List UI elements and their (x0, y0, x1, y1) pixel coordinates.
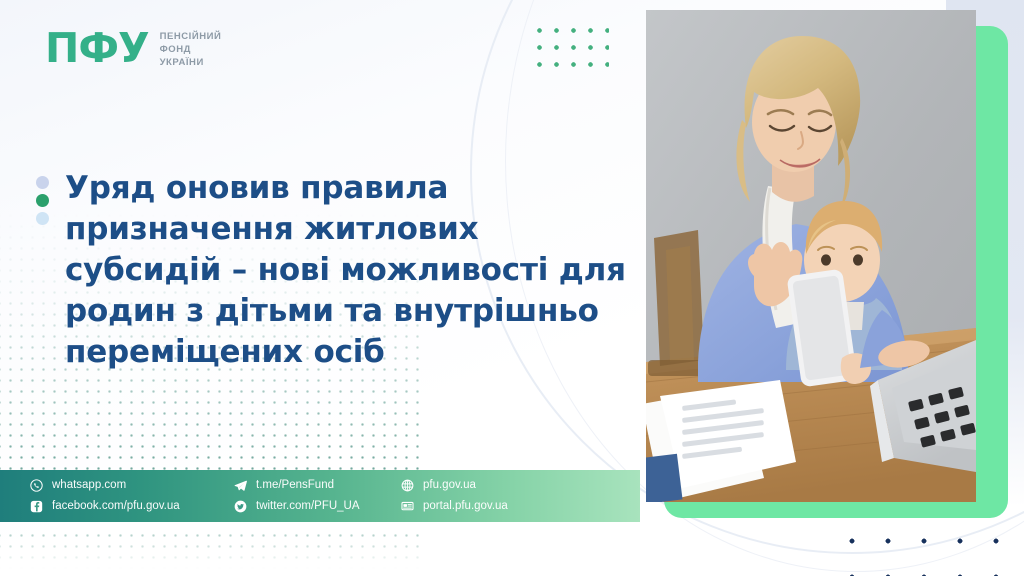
poster-canvas: ПФУ ПЕНСІЙНИЙ ФОНД УКРАЇНИ Уряд оновив п… (0, 0, 1024, 576)
contact-link-telegram[interactable]: t.me/PensFund (234, 479, 401, 493)
contact-link-whatsapp[interactable]: whatsapp.com (30, 479, 234, 493)
contact-label: pfu.gov.ua (423, 479, 476, 492)
contact-column-3: pfu.gov.ua portal.pfu.gov.ua (401, 479, 581, 514)
pfu-logo: ПФУ ПЕНСІЙНИЙ ФОНД УКРАЇНИ (45, 28, 221, 69)
contact-column-2: t.me/PensFund twitter.com/PFU_UA (234, 479, 401, 514)
dot-pattern-green-top (531, 22, 609, 68)
contact-label: portal.pfu.gov.ua (423, 500, 508, 513)
logo-line-3: УКРАЇНИ (160, 57, 222, 68)
bullet-dot-1 (36, 176, 49, 189)
whatsapp-icon (30, 479, 43, 492)
logo-line-2: ФОНД (160, 44, 222, 55)
page-title: Уряд оновив правила призначення житлових… (65, 168, 635, 373)
hero-photo (646, 10, 976, 502)
globe-icon (401, 479, 414, 492)
contact-label: t.me/PensFund (256, 479, 334, 492)
portal-icon (401, 500, 414, 513)
bullet-dot-3 (36, 212, 49, 225)
headline-bullet-dots (36, 176, 49, 225)
logo-wordmark: ПЕНСІЙНИЙ ФОНД УКРАЇНИ (160, 29, 222, 68)
telegram-icon (234, 479, 247, 492)
contact-label: whatsapp.com (52, 479, 126, 492)
contact-link-twitter[interactable]: twitter.com/PFU_UA (234, 500, 401, 514)
twitter-icon (234, 500, 247, 513)
contact-bar: whatsapp.com facebook.com/pfu.gov.ua t.m… (0, 470, 640, 522)
contact-column-1: whatsapp.com facebook.com/pfu.gov.ua (30, 479, 234, 514)
contact-link-facebook[interactable]: facebook.com/pfu.gov.ua (30, 500, 234, 514)
contact-label: facebook.com/pfu.gov.ua (52, 500, 180, 513)
dot-pattern-below-bar (0, 530, 424, 576)
logo-mark-text: ПФУ (45, 28, 149, 69)
contact-label: twitter.com/PFU_UA (256, 500, 360, 513)
bullet-dot-2 (36, 194, 49, 207)
logo-line-1: ПЕНСІЙНИЙ (160, 31, 222, 42)
contact-link-website[interactable]: pfu.gov.ua (401, 479, 581, 493)
facebook-icon (30, 500, 43, 513)
contact-link-portal[interactable]: portal.pfu.gov.ua (401, 500, 581, 514)
